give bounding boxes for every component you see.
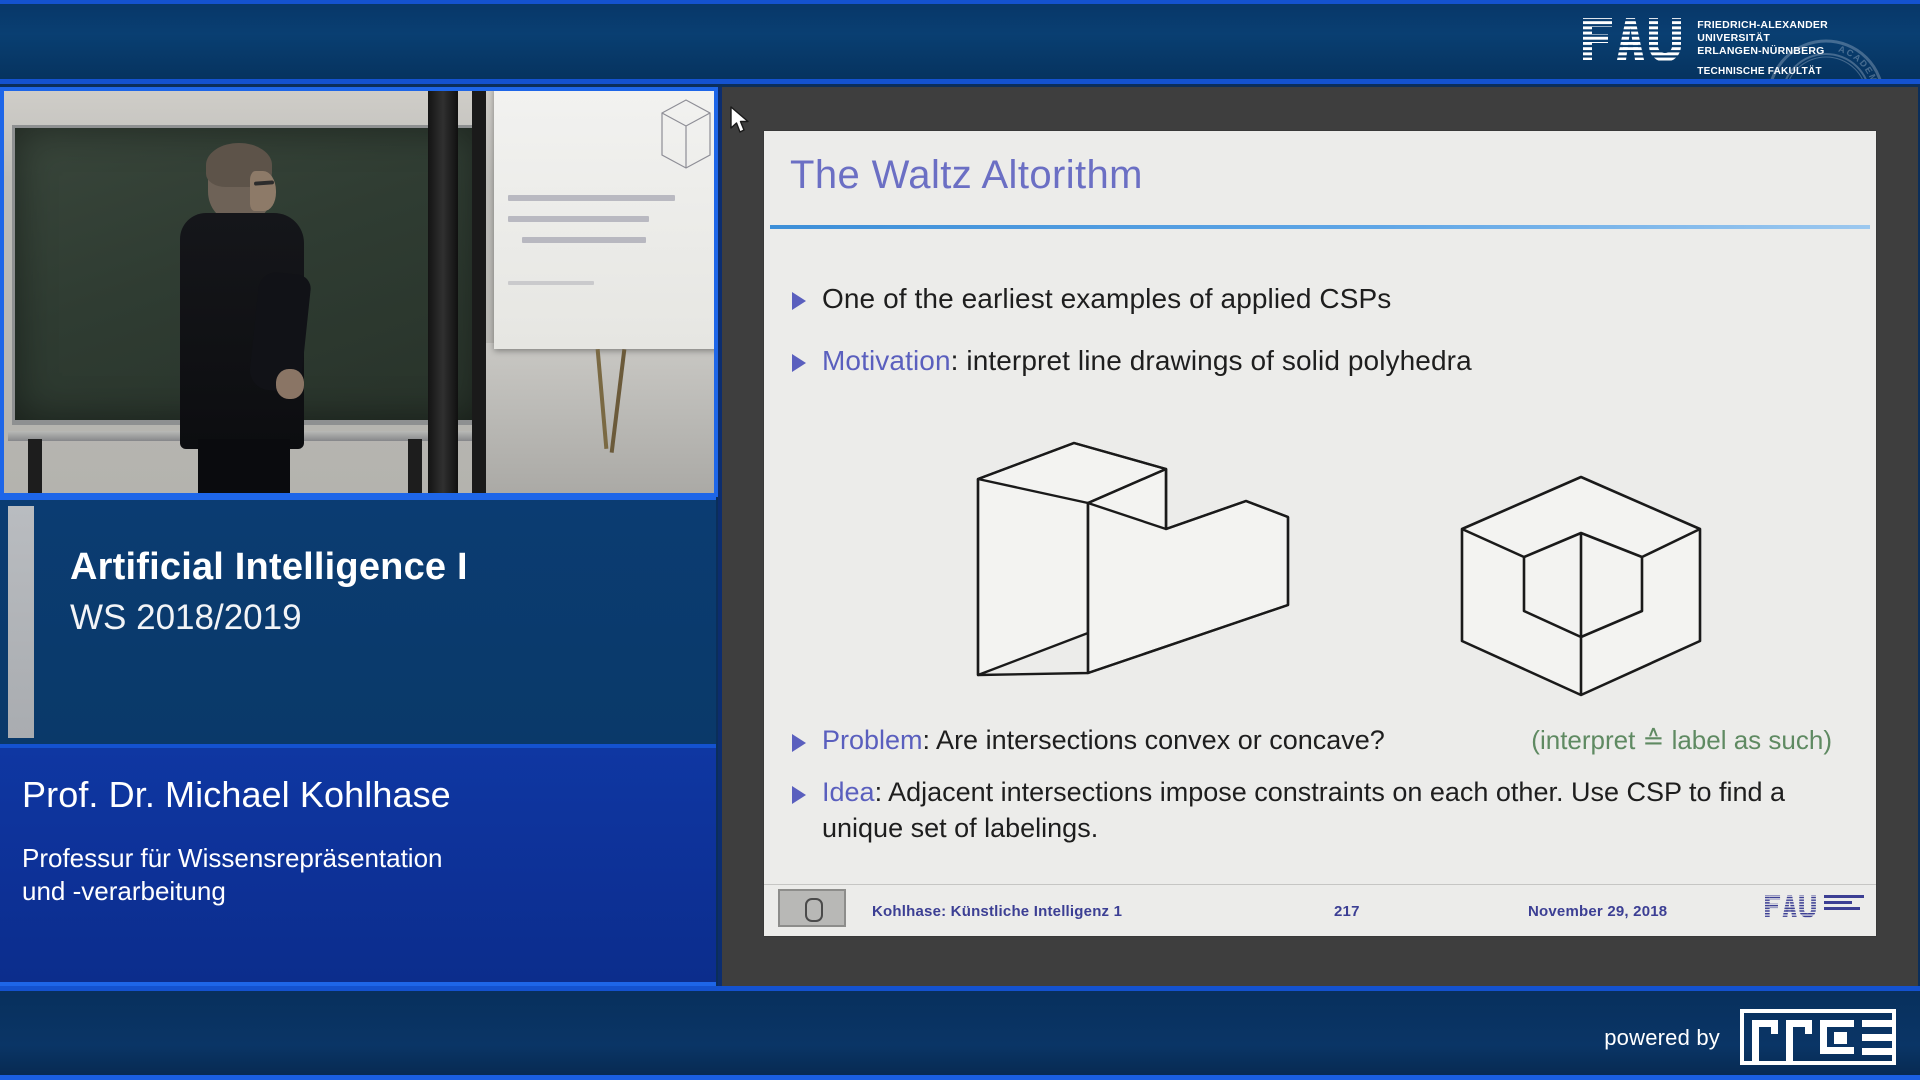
bullet-side-note: (interpret ≙ label as such) (1513, 725, 1832, 756)
slide-footer-course: Kohlhase: Künstliche Intelligenz 1 (872, 903, 1122, 920)
list-item: Idea: Adjacent intersections impose cons… (792, 775, 1856, 847)
slide-thumbnail-icon (778, 889, 846, 927)
chalkboard-leg-right (408, 439, 422, 497)
chalkboard-leg-left (28, 439, 42, 497)
presenter-name: Prof. Dr. Michael Kohlhase (22, 774, 451, 816)
video-frame (4, 91, 714, 493)
presenter-role: Professur für Wissensrepräsentation und … (22, 842, 662, 908)
course-title: Artificial Intelligence I (70, 546, 468, 589)
hall-pillar-secondary (472, 91, 486, 497)
bullet-rest: : Adjacent intersections impose constrai… (822, 777, 1785, 843)
slide-footer-date: November 29, 2018 (1528, 903, 1667, 920)
bullet-text: One of the earliest examples of applied … (822, 281, 1391, 317)
bullet-triangle-icon (792, 734, 806, 752)
projected-cube-icon (656, 95, 716, 173)
bullet-keyword: Motivation (822, 345, 951, 376)
fau-wordmark-icon (1583, 16, 1687, 62)
fau-faculty-line: TECHNISCHE FAKULTÄT (1697, 66, 1828, 77)
bullet-triangle-icon (792, 786, 806, 804)
fau-logo: FRIEDRICH-ALEXANDER UNIVERSITÄT ERLANGEN… (1583, 16, 1828, 77)
fau-wordmark-icon (1765, 893, 1819, 919)
page-footer-bar: powered by (0, 986, 1920, 1080)
projected-text-lines (508, 195, 718, 300)
slide-canvas: The Waltz Altorithm One of the earliest … (764, 131, 1876, 936)
slide-figures (764, 453, 1876, 703)
lecture-video-panel[interactable] (0, 87, 718, 497)
lecturer-figure (180, 147, 316, 497)
list-item: Problem: Are intersections convex or con… (792, 723, 1856, 759)
bullet-rest: : Are intersections convex or concave? (923, 725, 1385, 755)
slide-footer: Kohlhase: Künstliche Intelligenz 1 217 N… (764, 884, 1876, 936)
fau-footer-lines (1824, 893, 1864, 913)
powered-by-label: powered by (1604, 1025, 1720, 1051)
slide-title: The Waltz Altorithm (790, 153, 1143, 198)
slide-bullet-list-bottom: Problem: Are intersections convex or con… (792, 723, 1856, 863)
page-header: FRIEDRICH-ALEXANDER UNIVERSITÄT ERLANGEN… (0, 0, 1920, 84)
hall-pillar (428, 91, 458, 497)
bullet-rest: : interpret line drawings of solid polyh… (951, 345, 1472, 376)
presenter-block: Prof. Dr. Michael Kohlhase Professur für… (0, 748, 716, 986)
projection-screen (494, 87, 718, 349)
course-title-block: Artificial Intelligence I WS 2018/2019 (0, 497, 716, 748)
rrze-logo-icon (1740, 1009, 1896, 1065)
notched-cube-line-drawing (1456, 471, 1706, 706)
bullet-triangle-icon (792, 354, 806, 372)
bullet-keyword: Problem (822, 725, 923, 755)
course-term: WS 2018/2019 (70, 598, 302, 638)
slide-footer-page-number: 217 (1334, 903, 1360, 920)
bullet-keyword: Idea (822, 777, 875, 807)
title-accent-bar (8, 506, 34, 738)
slide-viewer[interactable]: The Waltz Altorithm One of the earliest … (718, 87, 1918, 986)
mouse-cursor (730, 106, 752, 141)
l-shaped-block-line-drawing (970, 437, 1300, 692)
slide-title-rule (770, 225, 1870, 229)
bullet-triangle-icon (792, 292, 806, 310)
fau-org-lines: FRIEDRICH-ALEXANDER UNIVERSITÄT ERLANGEN… (1697, 16, 1828, 57)
lecture-recording-screen: FRIEDRICH-ALEXANDER UNIVERSITÄT ERLANGEN… (0, 0, 1920, 1080)
list-item: Motivation: interpret line drawings of s… (792, 343, 1852, 379)
bullet-text: Idea: Adjacent intersections impose cons… (822, 775, 1856, 847)
list-item: One of the earliest examples of applied … (792, 281, 1852, 317)
bullet-text: Problem: Are intersections convex or con… (822, 723, 1385, 759)
slide-bullet-list-top: One of the earliest examples of applied … (792, 281, 1852, 406)
bullet-text: Motivation: interpret line drawings of s… (822, 343, 1472, 379)
slide-footer-fau-logo (1765, 893, 1864, 919)
